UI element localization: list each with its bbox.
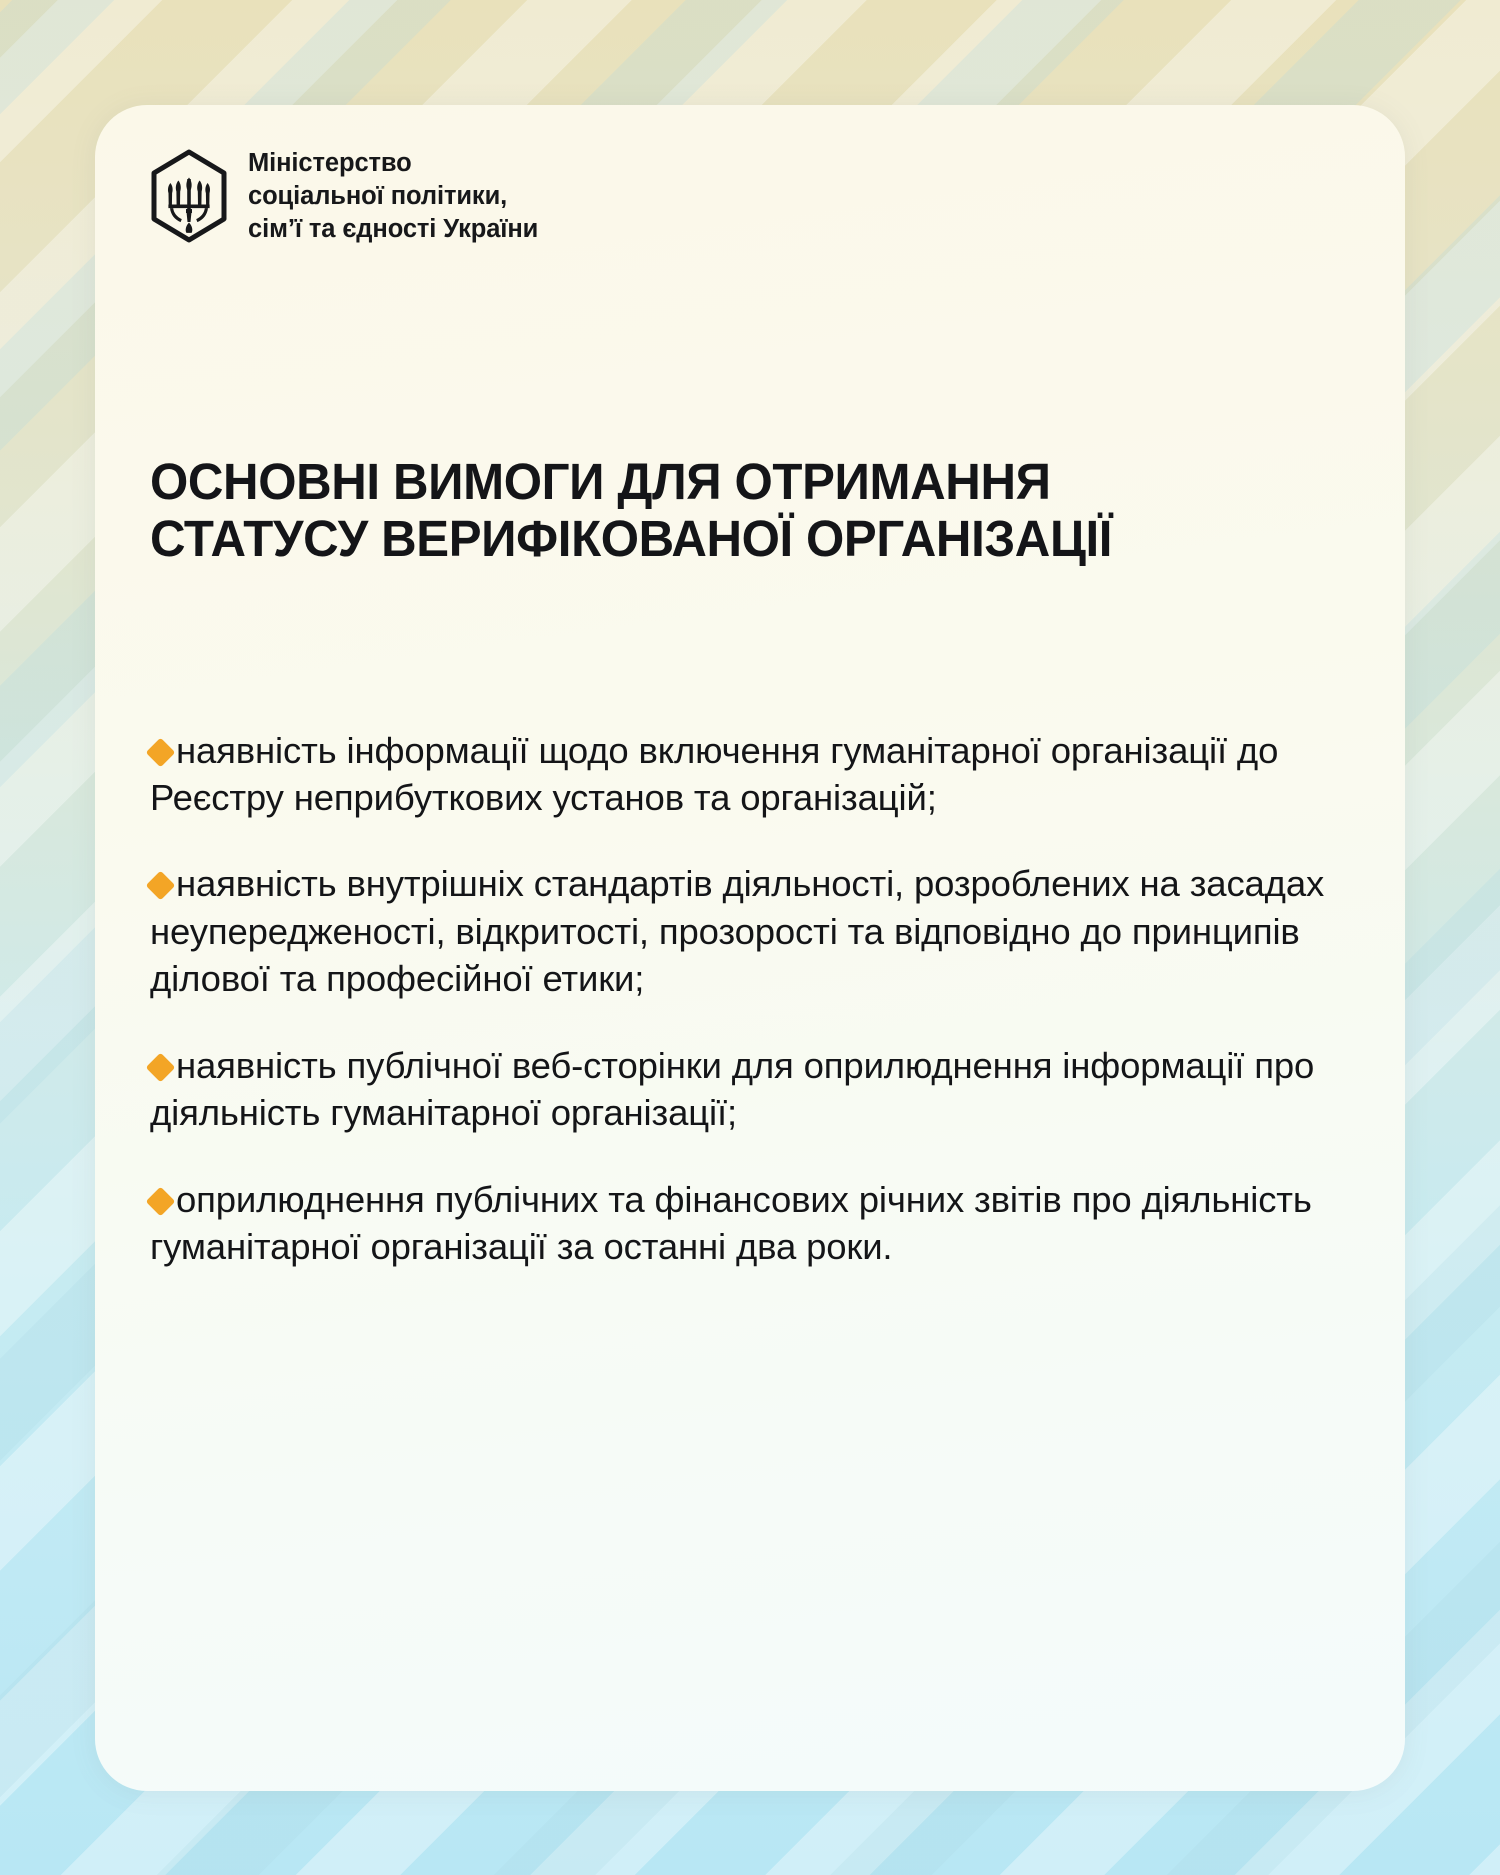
ukraine-trident-shield-icon <box>150 149 228 243</box>
ministry-logo-text: Міністерство соціальної політики, сім’ї … <box>248 147 538 245</box>
diamond-bullet-icon <box>146 737 176 767</box>
list-item: наявність публічної веб-сторінки для опр… <box>150 1042 1350 1137</box>
list-item: оприлюднення публічних та фінансових річ… <box>150 1176 1350 1271</box>
list-item-text: оприлюднення публічних та фінансових річ… <box>150 1179 1312 1267</box>
list-item: наявність інформації щодо включення гума… <box>150 727 1350 822</box>
list-item-text: наявність інформації щодо включення гума… <box>150 730 1278 818</box>
requirements-list: наявність інформації щодо включення гума… <box>150 690 1350 1270</box>
diamond-bullet-icon <box>146 1052 176 1082</box>
content-card: Міністерство соціальної політики, сім’ї … <box>95 105 1405 1791</box>
poster-stage: Міністерство соціальної політики, сім’ї … <box>0 0 1500 1875</box>
page-title-line-2: СТАТУСУ ВЕРИФІКОВАНОЇ ОРГАНІЗАЦІЇ <box>150 510 1112 567</box>
page-title: ОСНОВНІ ВИМОГИ ДЛЯ ОТРИМАННЯ СТАТУСУ ВЕР… <box>150 454 1163 568</box>
diamond-bullet-icon <box>146 871 176 901</box>
list-item: наявність внутрішніх стандартів діяльнос… <box>150 860 1350 1002</box>
diamond-bullet-icon <box>146 1186 176 1216</box>
list-item-text: наявність публічної веб-сторінки для опр… <box>150 1045 1314 1133</box>
list-item-text: наявність внутрішніх стандартів діяльнос… <box>150 863 1324 999</box>
ministry-logo: Міністерство соціальної політики, сім’ї … <box>150 147 538 245</box>
page-title-line-1: ОСНОВНІ ВИМОГИ ДЛЯ ОТРИМАННЯ <box>150 453 1051 510</box>
